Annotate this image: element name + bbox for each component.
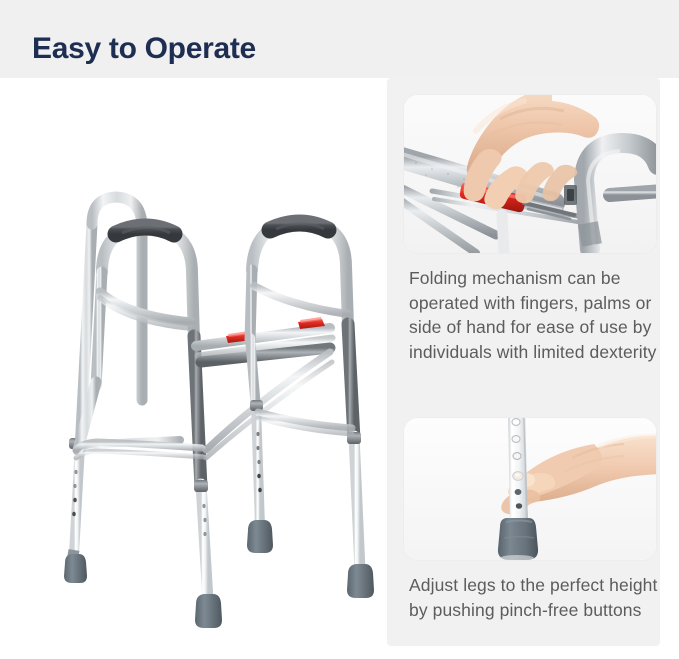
rubber-tip-front-right: [347, 564, 374, 598]
leg-height-adjust-photo: [404, 418, 656, 560]
walker-crossbar: [196, 317, 332, 458]
rubber-tip-rear-right: [247, 520, 273, 553]
rubber-tip: [498, 518, 538, 560]
handgrip-left: [116, 227, 174, 234]
feature-card-leg-adjust: [404, 418, 656, 560]
page-title: Easy to Operate: [32, 31, 256, 67]
handgrip-right: [270, 223, 328, 230]
folding-mechanism-photo: [404, 95, 656, 253]
feature-caption-folding-mechanism: Folding mechanism can be operated with f…: [409, 266, 659, 364]
bracket-clip: [564, 185, 577, 205]
feature-caption-leg-adjust: Adjust legs to the perfect height by pus…: [409, 573, 659, 622]
walker-left-bottom-brace: [76, 442, 204, 458]
main-product-image: [30, 150, 380, 640]
rubber-tip-front-left: [195, 594, 222, 628]
walker-front-left-leg: [96, 227, 222, 628]
walker-leg-tube: [508, 418, 528, 524]
product-feature-panel: Easy to Operate: [0, 0, 679, 659]
feature-card-folding-mechanism: [404, 95, 656, 253]
